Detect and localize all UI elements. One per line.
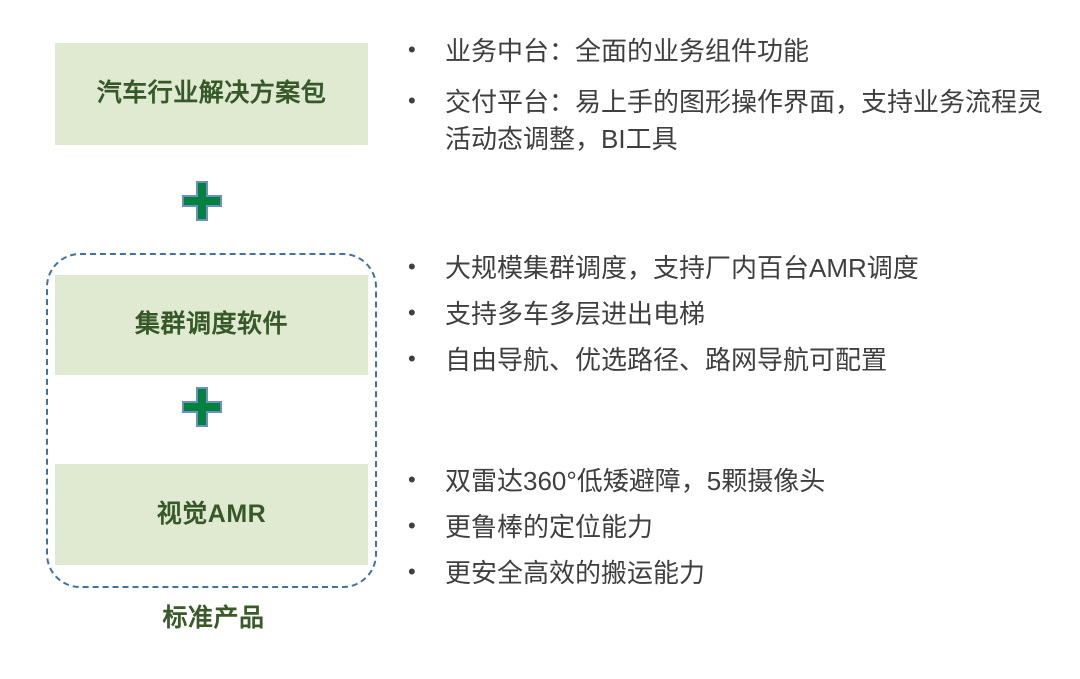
bullet-point-icon: • bbox=[400, 33, 445, 67]
list-item: • 大规模集群调度，支持厂内百台AMR调度 bbox=[400, 250, 1060, 287]
vision-amr-label: 视觉AMR bbox=[157, 499, 266, 530]
list-item: • 更鲁棒的定位能力 bbox=[400, 509, 1060, 546]
bullet-point-icon: • bbox=[400, 555, 445, 589]
list-item: • 自由导航、优选路径、路网导航可配置 bbox=[400, 342, 1060, 379]
fleet-scheduling-box[interactable]: 集群调度软件 bbox=[55, 275, 368, 375]
list-item: • 双雷达360°低矮避障，5颗摄像头 bbox=[400, 463, 1060, 500]
fleet-scheduling-label: 集群调度软件 bbox=[135, 309, 288, 340]
list-item-text: 支持多车多层进出电梯 bbox=[445, 296, 1045, 333]
list-item-text: 交付平台：易上手的图形操作界面，支持业务流程灵活动态调整，BI工具 bbox=[445, 84, 1045, 158]
list-item-text: 更安全高效的搬运能力 bbox=[445, 555, 1045, 592]
list-item: • 更安全高效的搬运能力 bbox=[400, 555, 1060, 592]
list-item: • 业务中台：全面的业务组件功能 bbox=[400, 33, 1060, 70]
bullet-group-fleet: • 大规模集群调度，支持厂内百台AMR调度 • 支持多车多层进出电梯 • 自由导… bbox=[400, 250, 1060, 388]
list-item-text: 更鲁棒的定位能力 bbox=[445, 509, 1045, 546]
feature-bullets-column: • 业务中台：全面的业务组件功能 • 交付平台：易上手的图形操作界面，支持业务流… bbox=[400, 0, 1070, 679]
bullet-point-icon: • bbox=[400, 509, 445, 543]
product-stack-column: 汽车行业解决方案包 集群调度软件 视觉AMR 标准产品 bbox=[0, 0, 395, 679]
plus-icon bbox=[182, 181, 222, 221]
bullet-point-icon: • bbox=[400, 342, 445, 376]
list-item-text: 双雷达360°低矮避障，5颗摄像头 bbox=[445, 463, 1045, 500]
list-item-text: 大规模集群调度，支持厂内百台AMR调度 bbox=[445, 250, 1045, 287]
solution-package-label: 汽车行业解决方案包 bbox=[97, 78, 327, 109]
bullet-point-icon: • bbox=[400, 250, 445, 284]
plus-icon bbox=[182, 387, 222, 427]
standard-product-label: 标准产品 bbox=[46, 598, 381, 634]
solution-package-box[interactable]: 汽车行业解决方案包 bbox=[55, 43, 368, 145]
list-item: • 支持多车多层进出电梯 bbox=[400, 296, 1060, 333]
list-item: • 交付平台：易上手的图形操作界面，支持业务流程灵活动态调整，BI工具 bbox=[400, 84, 1060, 158]
bullet-group-platform: • 业务中台：全面的业务组件功能 • 交付平台：易上手的图形操作界面，支持业务流… bbox=[400, 33, 1060, 172]
bullet-point-icon: • bbox=[400, 463, 445, 497]
bullet-point-icon: • bbox=[400, 84, 445, 118]
list-item-text: 业务中台：全面的业务组件功能 bbox=[445, 33, 1045, 70]
list-item-text: 自由导航、优选路径、路网导航可配置 bbox=[445, 342, 1045, 379]
bullet-group-amr: • 双雷达360°低矮避障，5颗摄像头 • 更鲁棒的定位能力 • 更安全高效的搬… bbox=[400, 463, 1060, 601]
bullet-point-icon: • bbox=[400, 296, 445, 330]
vision-amr-box[interactable]: 视觉AMR bbox=[55, 464, 368, 565]
